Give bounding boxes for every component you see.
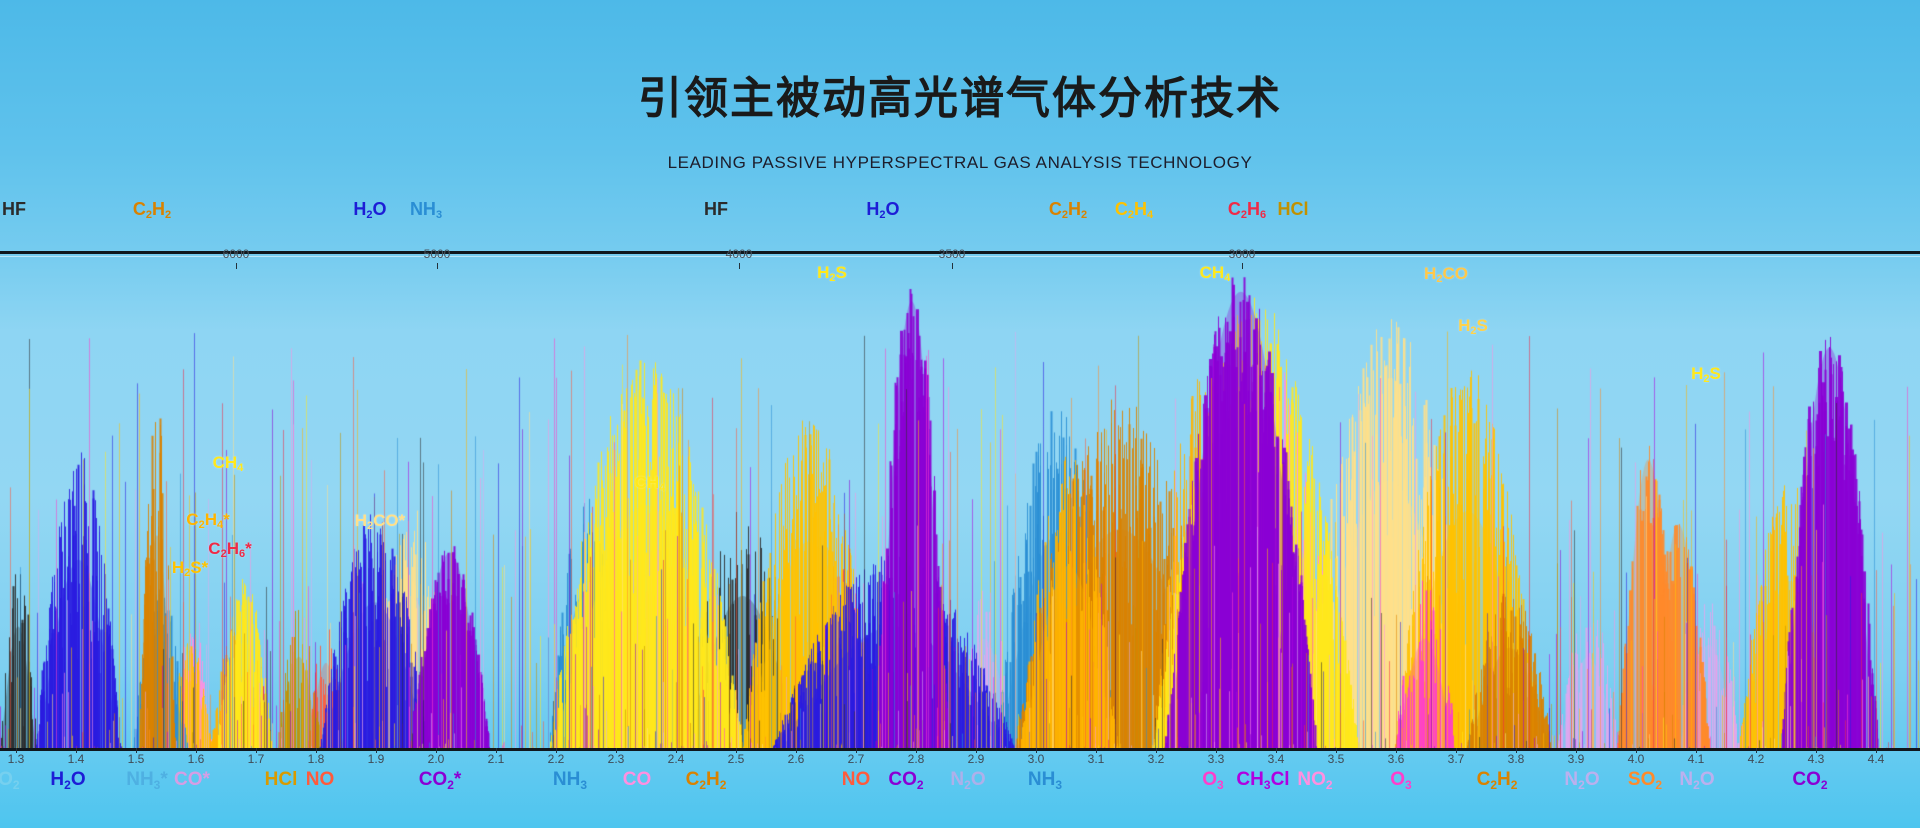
bottom-axis-tick-label: 2.6 <box>788 752 805 766</box>
bottom-axis-tick-label: 3.4 <box>1268 752 1285 766</box>
bottom-axis-tick-mark <box>16 748 17 753</box>
bottom-axis-tick-mark <box>676 748 677 753</box>
top-gas-label-h2o: H2O <box>866 200 899 221</box>
bottom-axis-tick-mark <box>856 748 857 753</box>
bottom-axis-tick-mark <box>1876 748 1877 753</box>
bottom-axis-tick-label: 2.3 <box>608 752 625 766</box>
bottom-gas-label-n2o: N2O <box>1564 770 1599 791</box>
header: 引领主被动高光谱气体分析技术 LEADING PASSIVE HYPERSPEC… <box>0 0 1920 200</box>
inplot-gas-label-h2co: H2CO <box>1424 264 1468 284</box>
bottom-axis-tick-mark <box>436 748 437 753</box>
bottom-axis-tick-mark <box>1456 748 1457 753</box>
bottom-axis-tick-label: 2.8 <box>908 752 925 766</box>
bottom-axis-tick-mark <box>1576 748 1577 753</box>
bottom-axis-tick-mark <box>1336 748 1337 753</box>
top-gas-label-c2h2: C2H2 <box>1049 200 1087 221</box>
top-gas-label-band: HFC2H2H2ONH3HFH2OC2H2C2H4C2H6HCl <box>0 200 1920 228</box>
bottom-axis-tick-label: 1.5 <box>128 752 145 766</box>
spectral-banner: 引领主被动高光谱气体分析技术 LEADING PASSIVE HYPERSPEC… <box>0 0 1920 828</box>
bottom-gas-label-so2: SO2 <box>1628 770 1662 791</box>
bottom-axis-tick-mark <box>916 748 917 753</box>
bottom-axis-tick-label: 4.2 <box>1748 752 1765 766</box>
top-gas-label-hf: HF <box>2 200 26 218</box>
bottom-axis-tick-mark <box>496 748 497 753</box>
inplot-gas-label-ch4: CH4 <box>1200 263 1231 283</box>
bottom-axis-tick-mark <box>256 748 257 753</box>
inplot-gas-label-c2h4: C2H4* <box>186 510 229 530</box>
bottom-gas-label-co: CO* <box>174 770 210 790</box>
bottom-axis-tick-label: 3.5 <box>1328 752 1345 766</box>
bottom-gas-label-nh3: NH3 <box>553 770 587 791</box>
top-gas-label-c2h4: C2H4 <box>1115 200 1153 221</box>
bottom-axis-tick-label: 4.1 <box>1688 752 1705 766</box>
bottom-gas-label-ch3cl: CH3Cl <box>1236 770 1289 791</box>
bottom-gas-label-co: CO <box>623 770 652 790</box>
bottom-axis-tick-mark <box>1276 748 1277 753</box>
inplot-gas-label-h2s: H2S <box>817 263 847 283</box>
bottom-axis-tick-mark <box>376 748 377 753</box>
bottom-axis-tick-label: 3.3 <box>1208 752 1225 766</box>
bottom-axis-tick-label: 2.0 <box>428 752 445 766</box>
top-gas-label-hcl: HCl <box>1278 200 1309 218</box>
spectrum-canvas <box>0 258 1920 748</box>
bottom-gas-label-co2: CO2 <box>0 770 20 791</box>
bottom-axis-tick-label: 1.6 <box>188 752 205 766</box>
bottom-axis-tick-label: 3.1 <box>1088 752 1105 766</box>
bottom-gas-label-o3: O3 <box>1390 770 1411 791</box>
top-gas-label-c2h2: C2H2 <box>133 200 171 221</box>
bottom-axis-tick-label: 1.4 <box>68 752 85 766</box>
bottom-axis-tick-label: 3.8 <box>1508 752 1525 766</box>
inplot-gas-label-h2s: H2S <box>1458 316 1488 336</box>
bottom-axis-tick-mark <box>1036 748 1037 753</box>
bottom-gas-label-hcl: HCl <box>265 770 298 790</box>
inplot-gas-label-h2s: H2S <box>1691 364 1721 384</box>
page-title: 引领主被动高光谱气体分析技术 <box>0 62 1920 126</box>
bottom-axis-tick-mark <box>1156 748 1157 753</box>
bottom-axis-tick-mark <box>76 748 77 753</box>
bottom-axis-tick-label: 2.4 <box>668 752 685 766</box>
bottom-gas-label-n2o: N2O <box>950 770 985 791</box>
inplot-gas-label-h2co: H2CO* <box>355 511 406 531</box>
bottom-gas-label-band: CO2H2ONH3*CO*HClNOCO2*NH3COC2H2NOCO2N2ON… <box>0 770 1920 810</box>
top-gas-label-nh3: NH3 <box>410 200 442 221</box>
bottom-gas-label-co2: CO2* <box>419 770 462 791</box>
bottom-axis-tick-label: 2.1 <box>488 752 505 766</box>
bottom-gas-label-no: NO <box>306 770 335 790</box>
bottom-axis-tick-mark <box>976 748 977 753</box>
bottom-axis-tick-mark <box>556 748 557 753</box>
bottom-axis-tick-mark <box>1696 748 1697 753</box>
bottom-gas-label-c2h2: C2H2 <box>1477 770 1518 791</box>
bottom-axis-tick-label: 1.9 <box>368 752 385 766</box>
bottom-axis-tick-mark <box>1636 748 1637 753</box>
inplot-gas-label-ch4: CH4 <box>213 453 244 473</box>
bottom-axis-tick-label: 1.7 <box>248 752 265 766</box>
bottom-axis-tick-mark <box>196 748 197 753</box>
bottom-axis-tick-label: 2.5 <box>728 752 745 766</box>
bottom-axis-tick-label: 3.2 <box>1148 752 1165 766</box>
spectrum-plot: CH4C2H4*C2H6*H2S*H2CO*CH4H2SCH4H2COH2SH2… <box>0 258 1920 748</box>
bottom-axis-tick-label: 1.3 <box>8 752 25 766</box>
bottom-gas-label-nh3: NH3 <box>1028 770 1062 791</box>
bottom-gas-label-n2o: N2O <box>1679 770 1714 791</box>
bottom-axis-tick-label: 4.0 <box>1628 752 1645 766</box>
bottom-axis-tick-mark <box>736 748 737 753</box>
bottom-gas-label-no: NO <box>842 770 871 790</box>
inplot-gas-label-ch4: CH4 <box>635 473 666 493</box>
bottom-gas-label-h2o: H2O <box>50 770 85 791</box>
bottom-axis-tick-mark <box>1216 748 1217 753</box>
page-subtitle: LEADING PASSIVE HYPERSPECTRAL GAS ANALYS… <box>0 153 1920 173</box>
bottom-axis-tick-mark <box>796 748 797 753</box>
bottom-axis-tick-mark <box>616 748 617 753</box>
bottom-gas-label-c2h2: C2H2 <box>686 770 727 791</box>
bottom-axis-tick-label: 3.6 <box>1388 752 1405 766</box>
top-gas-label-hf: HF <box>704 200 728 218</box>
bottom-gas-label-nh3: NH3* <box>126 770 168 791</box>
inplot-gas-label-c2h6: C2H6* <box>208 539 251 559</box>
bottom-axis-tick-label: 2.7 <box>848 752 865 766</box>
bottom-axis-tick-label: 3.7 <box>1448 752 1465 766</box>
bottom-axis-tick-label: 3.9 <box>1568 752 1585 766</box>
bottom-gas-label-co2: CO2 <box>1792 770 1827 791</box>
bottom-axis-tick-mark <box>316 748 317 753</box>
bottom-axis-tick-label: 1.8 <box>308 752 325 766</box>
bottom-axis-tick-label: 2.9 <box>968 752 985 766</box>
top-gas-label-h2o: H2O <box>353 200 386 221</box>
inplot-gas-label-h2s: H2S* <box>172 558 208 578</box>
bottom-axis-tick-mark <box>1816 748 1817 753</box>
bottom-axis-tick-mark <box>1516 748 1517 753</box>
bottom-axis-tick-mark <box>1096 748 1097 753</box>
bottom-axis-tick-label: 2.2 <box>548 752 565 766</box>
bottom-gas-label-co2: CO2 <box>888 770 923 791</box>
top-gas-label-c2h6: C2H6 <box>1228 200 1266 221</box>
bottom-axis-tick-mark <box>136 748 137 753</box>
bottom-axis-tick-mark <box>1756 748 1757 753</box>
bottom-axis-rule <box>0 748 1920 751</box>
bottom-axis-tick-mark <box>1396 748 1397 753</box>
bottom-axis-tick-label: 4.3 <box>1808 752 1825 766</box>
bottom-axis-tick-label: 4.4 <box>1868 752 1885 766</box>
bottom-axis-tick-label: 3.0 <box>1028 752 1045 766</box>
bottom-gas-label-no2: NO2 <box>1297 770 1332 791</box>
bottom-gas-label-o3: O3 <box>1202 770 1223 791</box>
